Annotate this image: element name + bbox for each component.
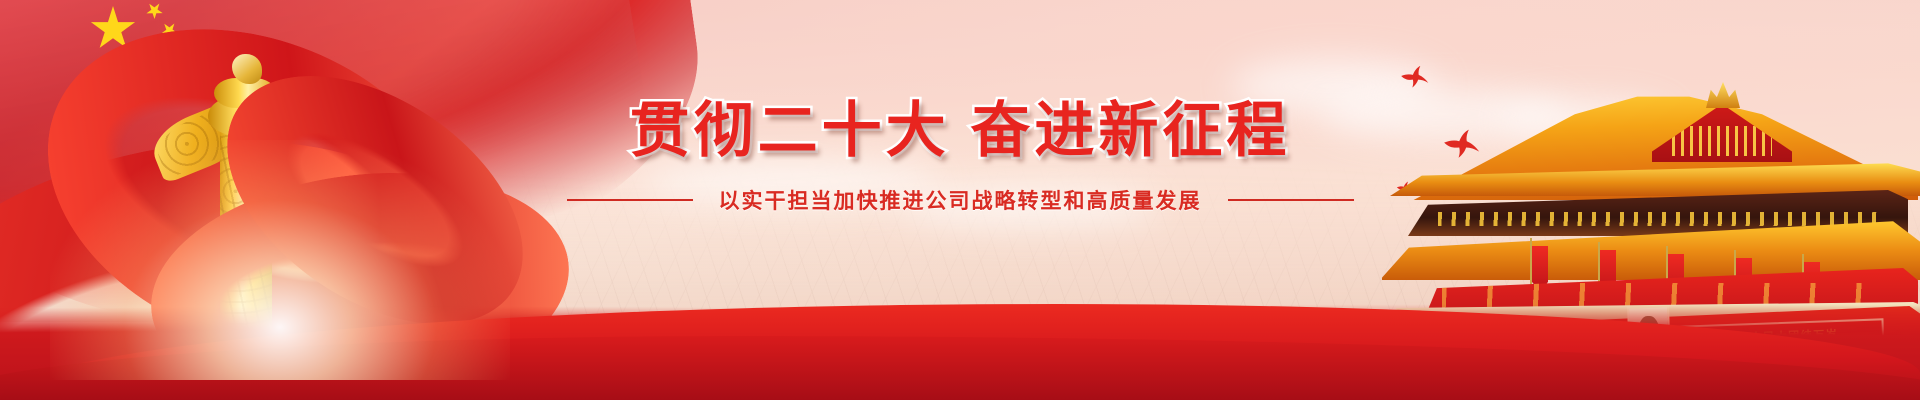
subtitle-row: 以实干担当加快推进公司战略转型和高质量发展 xyxy=(0,185,1920,215)
page-subtitle: 以实干担当加快推进公司战略转型和高质量发展 xyxy=(719,185,1202,215)
party-congress-banner: 中华人民共和国万岁 世界人民大团结万岁 贯彻二十大 奋进新征程 以实干担当加快推… xyxy=(0,0,1920,400)
subtitle-rule-right xyxy=(1228,199,1354,201)
page-title: 贯彻二十大 奋进新征程 xyxy=(0,96,1920,165)
subtitle-rule-left xyxy=(567,199,693,201)
headline-block: 贯彻二十大 奋进新征程 以实干担当加快推进公司战略转型和高质量发展 xyxy=(0,96,1920,215)
